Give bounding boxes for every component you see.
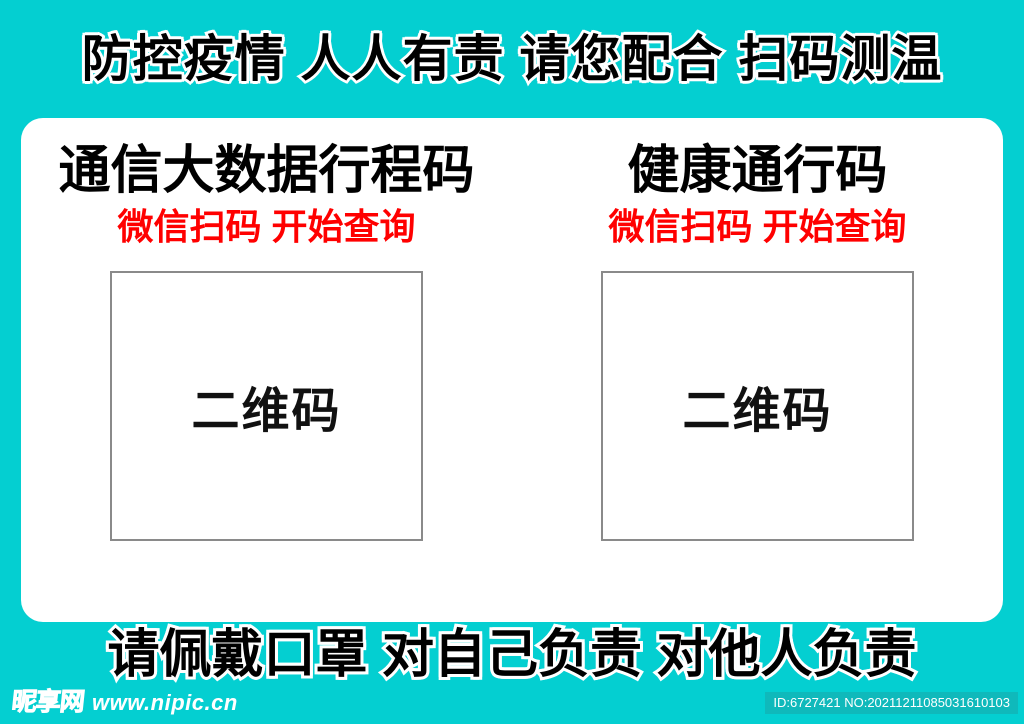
header-banner: 防控疫情 人人有责 请您配合 扫码测温: [0, 0, 1024, 118]
column-travel-code: 通信大数据行程码 微信扫码 开始查询 二维码: [21, 118, 512, 622]
footer-slogan: 请佩戴口罩 对自己负责 对他人负责: [0, 628, 1024, 683]
qr-code-box-travel-code[interactable]: 二维码: [110, 271, 423, 541]
column-title-health-code: 健康通行码: [627, 142, 887, 200]
header-slogan: 防控疫情 人人有责 请您配合 扫码测温: [82, 33, 943, 86]
column-title-travel-code: 通信大数据行程码: [58, 142, 474, 200]
column-subtitle-travel-code: 微信扫码 开始查询: [117, 206, 415, 247]
qr-code-box-health-code[interactable]: 二维码: [601, 271, 914, 541]
qr-placeholder-label-health-code: 二维码: [682, 371, 832, 441]
watermark-url: www.nipic.cn: [92, 690, 238, 716]
watermark: 昵享网 www.nipic.cn: [12, 682, 238, 718]
watermark-logo: 昵享网: [10, 682, 86, 718]
qr-columns: 通信大数据行程码 微信扫码 开始查询 二维码 健康通行码 微信扫码 开始查询 二…: [21, 118, 1003, 622]
footer-banner: 请佩戴口罩 对自己负责 对他人负责 昵享网 www.nipic.cn ID:67…: [0, 622, 1024, 724]
image-id-tag: ID:6727421 NO:20211211085031610103: [765, 692, 1018, 714]
content-card: 通信大数据行程码 微信扫码 开始查询 二维码 健康通行码 微信扫码 开始查询 二…: [21, 118, 1003, 622]
column-health-code: 健康通行码 微信扫码 开始查询 二维码: [512, 118, 1003, 622]
qr-placeholder-label-travel-code: 二维码: [191, 371, 341, 441]
poster-canvas: 防控疫情 人人有责 请您配合 扫码测温 通信大数据行程码 微信扫码 开始查询 二…: [0, 0, 1024, 724]
column-subtitle-health-code: 微信扫码 开始查询: [608, 206, 906, 247]
